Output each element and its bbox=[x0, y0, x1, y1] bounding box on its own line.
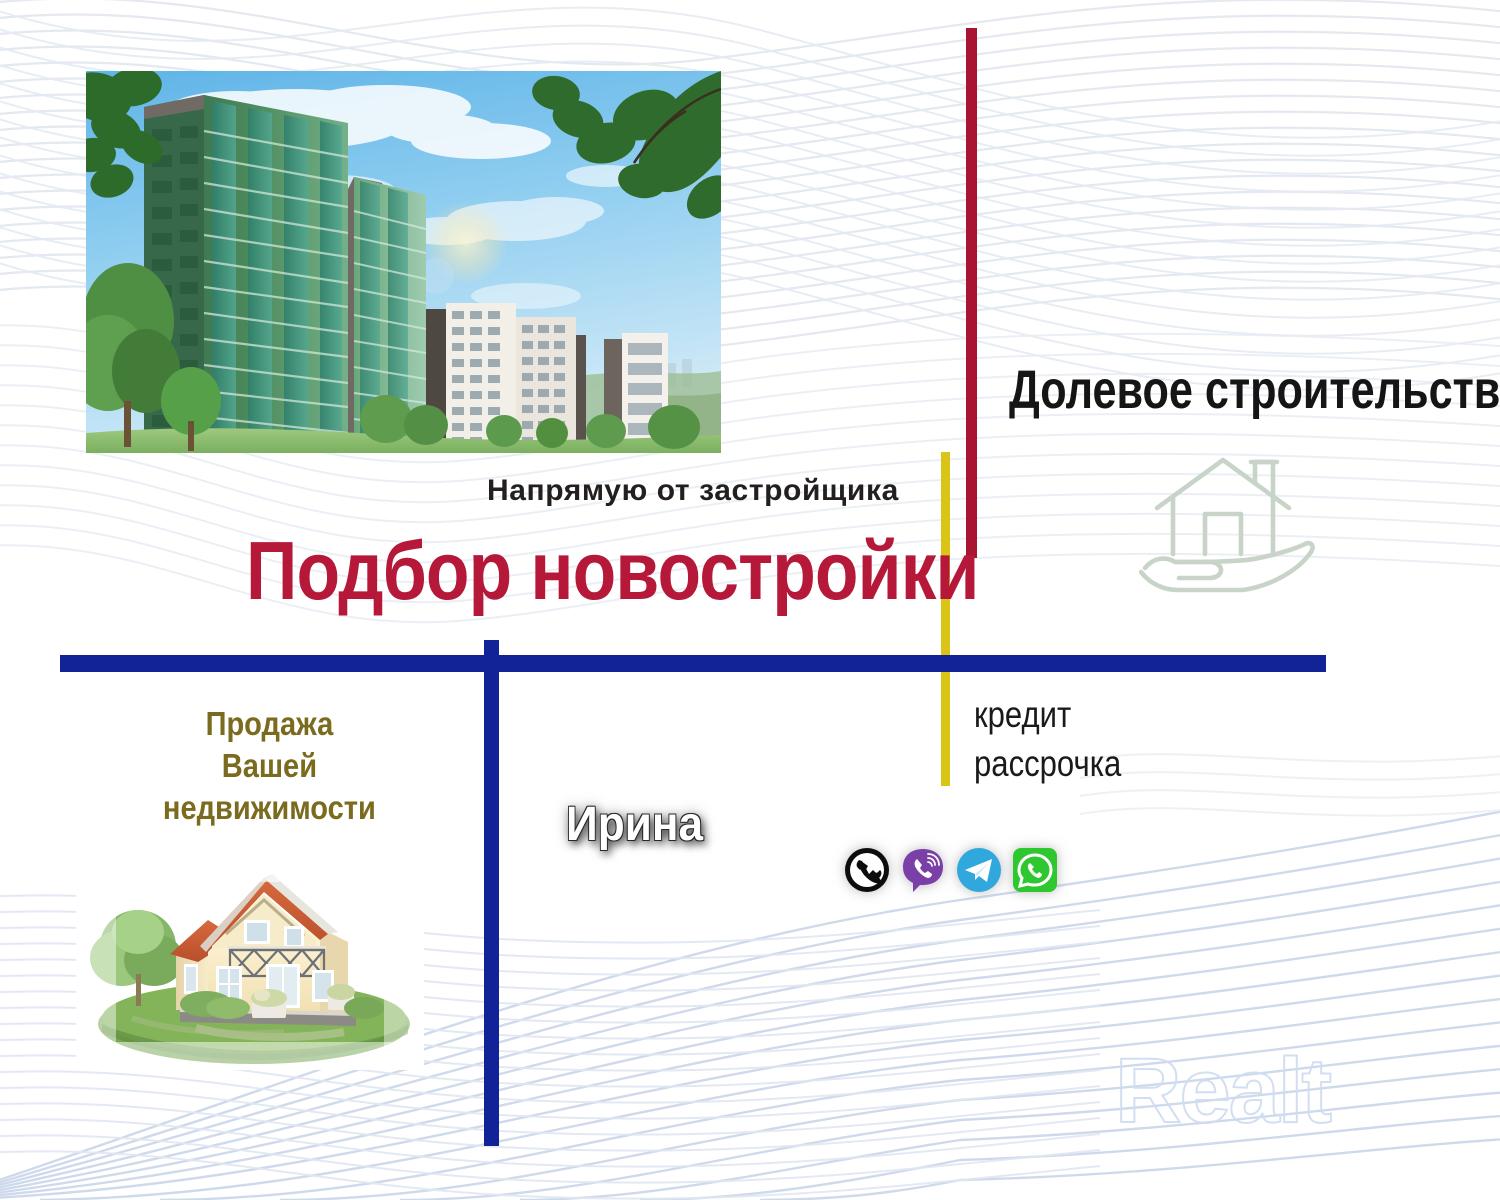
navy-vertical-divider bbox=[484, 640, 499, 1146]
contact-messenger-icons[interactable] bbox=[843, 846, 1059, 894]
sell-your-property-line-1: Продажа Вашей bbox=[155, 703, 384, 787]
financing-credit-label: кредит bbox=[974, 691, 1121, 740]
house-in-hand-icon bbox=[1139, 450, 1315, 605]
viber-icon[interactable] bbox=[899, 846, 947, 894]
subtitle-direct-from-developer: Напрямую от застройщика bbox=[487, 474, 899, 508]
yellow-vertical-divider bbox=[941, 452, 950, 786]
phone-icon[interactable] bbox=[843, 846, 891, 894]
realty-advert-poster: Realt bbox=[0, 0, 1500, 1200]
private-cottage-house-photo bbox=[76, 842, 424, 1070]
page-title: Подбор новостройки bbox=[246, 527, 979, 614]
new-apartment-buildings-photo bbox=[86, 71, 721, 453]
shared-construction-heading: Долевое строительство bbox=[1009, 362, 1500, 419]
whatsapp-icon[interactable] bbox=[1011, 846, 1059, 894]
red-vertical-divider bbox=[966, 28, 977, 558]
financing-options: кредит рассрочка bbox=[974, 691, 1121, 789]
navy-horizontal-divider bbox=[60, 655, 1326, 672]
sell-your-property-heading: Продажа Вашей недвижимости bbox=[155, 703, 384, 830]
telegram-icon[interactable] bbox=[955, 846, 1003, 894]
realt-watermark: Realt bbox=[1115, 1045, 1330, 1137]
agent-name: Ирина bbox=[566, 797, 703, 852]
sell-your-property-line-2: недвижимости bbox=[155, 787, 384, 829]
financing-installment-label: рассрочка bbox=[974, 740, 1121, 789]
